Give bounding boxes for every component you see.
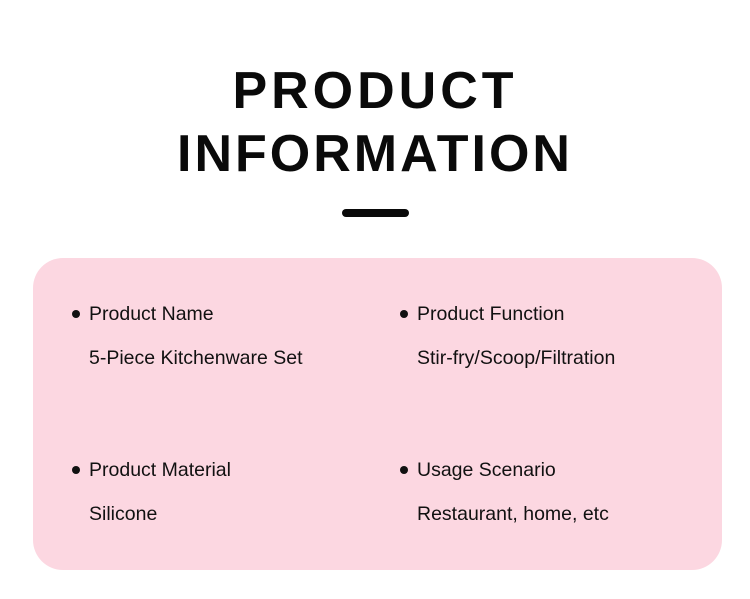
bullet-icon [72,310,80,318]
info-label-row: Product Function [400,301,722,327]
info-item-product-function: Product Function Stir-fry/Scoop/Filtrati… [400,258,722,414]
page-title-line-1: PRODUCT [0,60,750,123]
product-information-page: PRODUCT INFORMATION Product Name 5-Piece… [0,0,750,599]
info-item-product-name: Product Name 5-Piece Kitchenware Set [33,258,400,414]
info-label: Product Material [89,457,231,483]
bullet-icon [400,466,408,474]
page-title-line-2: INFORMATION [0,123,750,186]
title-divider [342,209,409,217]
page-header: PRODUCT INFORMATION [0,60,750,186]
product-info-panel: Product Name 5-Piece Kitchenware Set Pro… [33,258,722,570]
info-item-product-material: Product Material Silicone [33,414,400,570]
product-info-grid: Product Name 5-Piece Kitchenware Set Pro… [33,258,722,570]
info-label: Product Function [417,301,564,327]
bullet-icon [400,310,408,318]
info-label-row: Product Material [72,457,400,483]
info-label: Product Name [89,301,214,327]
info-value: Stir-fry/Scoop/Filtration [400,345,722,371]
bullet-icon [72,466,80,474]
info-label: Usage Scenario [417,457,556,483]
info-label-row: Product Name [72,301,400,327]
info-label-row: Usage Scenario [400,457,722,483]
info-value: 5-Piece Kitchenware Set [72,345,400,371]
info-item-usage-scenario: Usage Scenario Restaurant, home, etc [400,414,722,570]
title-divider-wrapper [0,209,750,217]
info-value: Silicone [72,501,400,527]
info-value: Restaurant, home, etc [400,501,722,527]
